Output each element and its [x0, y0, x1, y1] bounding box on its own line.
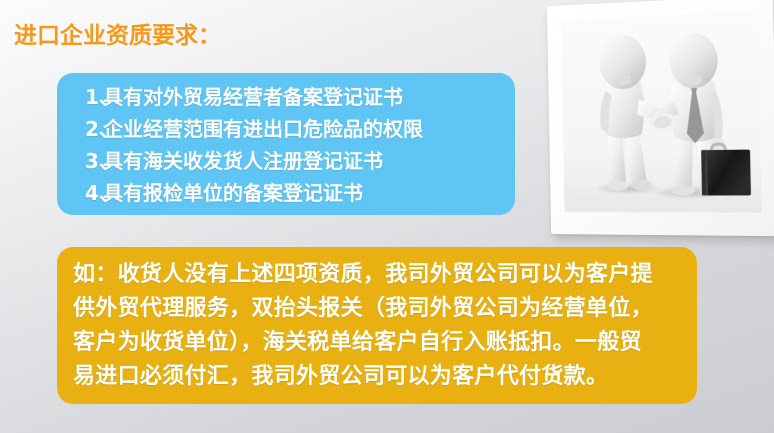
list-item-label: 具有海关收发货人注册登记证书 — [103, 149, 383, 173]
page-title: 进口企业资质要求： — [14, 16, 221, 50]
requirements-box: 1、具有对外贸易经营者备案登记证书 2、企业经营范围有进出口危险品的权限 3、具… — [57, 73, 515, 215]
handshake-photo — [549, 6, 767, 234]
slide-canvas: 进口企业资质要求： 1、具有对外贸易经营者备案登记证书 2、企业经营范围有进出口… — [0, 0, 774, 433]
list-item: 3、具有海关收发货人注册登记证书 — [57, 145, 515, 177]
photo-image — [561, 11, 762, 213]
note-box: 如：收货人没有上述四项资质，我司外贸公司可以为客户提 供外贸代理服务，双抬头报关… — [57, 247, 697, 404]
list-item: 4、具有报检单位的备案登记证书 — [57, 177, 515, 209]
list-item-number: 3、 — [57, 145, 103, 177]
list-item: 1、具有对外贸易经营者备案登记证书 — [57, 81, 515, 113]
list-item-number: 2、 — [57, 113, 103, 145]
note-line: 如：收货人没有上述四项资质，我司外贸公司可以为客户提 — [73, 258, 681, 292]
list-item-label: 具有报检单位的备案登记证书 — [103, 181, 363, 205]
note-line: 易进口必须付汇，我司外贸公司可以为客户代付货款。 — [73, 360, 681, 394]
note-line: 客户为收货单位），海关税单给客户自行入账抵扣。一般贸 — [73, 326, 681, 360]
note-line: 供外贸代理服务，双抬头报关（我司外贸公司为经营单位， — [73, 292, 681, 326]
photo-frame — [547, 0, 774, 236]
list-item-label: 具有对外贸易经营者备案登记证书 — [103, 85, 403, 109]
list-item-number: 1、 — [57, 81, 103, 113]
list-item-number: 4、 — [57, 177, 103, 209]
list-item: 2、企业经营范围有进出口危险品的权限 — [57, 113, 515, 145]
list-item-label: 企业经营范围有进出口危险品的权限 — [103, 117, 423, 141]
